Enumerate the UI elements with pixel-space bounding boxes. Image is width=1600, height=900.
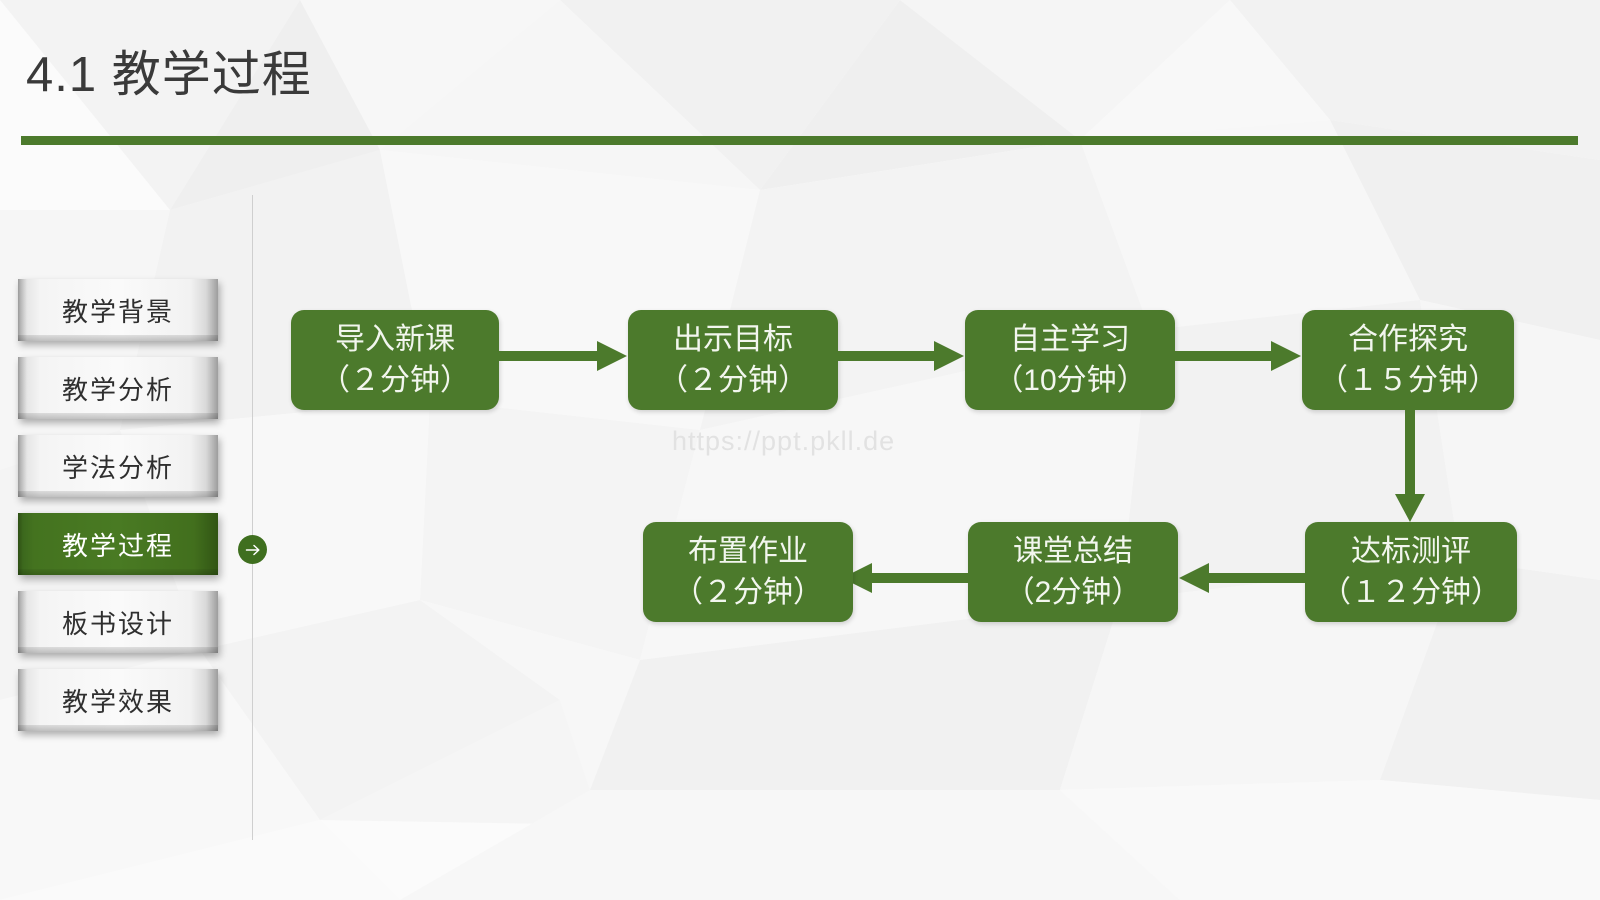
sidebar-item-label: 板书设计 [62, 604, 174, 641]
flow-node-title: 达标测评 [1351, 531, 1471, 572]
flow-node-hezuotanjiu[interactable]: 合作探究 （１５分钟） [1302, 310, 1514, 410]
sidebar-item-jiaoxuexiaoguo[interactable]: 教学效果 [18, 669, 218, 731]
sidebar-item-label: 教学效果 [62, 682, 174, 719]
flow-node-title: 出示目标 [673, 319, 793, 360]
flow-node-duration: （10分钟） [993, 360, 1146, 401]
flow-node-title: 合作探究 [1348, 319, 1468, 360]
flow-node-zizhuxuexi[interactable]: 自主学习 （10分钟） [965, 310, 1175, 410]
slide-canvas: 4.1 教学过程 教学背景 教学分析 学法分析 教学过程 板书设计 教学效果 [0, 0, 1600, 900]
sidebar-item-banshushejii[interactable]: 板书设计 [18, 591, 218, 653]
sidebar-item-label: 教学过程 [62, 526, 174, 563]
flow-arrow-left-1 [1176, 560, 1307, 596]
sidebar-item-label: 教学背景 [62, 292, 174, 329]
flow-node-duration: （１５分钟） [1318, 360, 1498, 401]
flow-node-title: 自主学习 [1010, 319, 1130, 360]
sidebar-item-label: 学法分析 [62, 448, 174, 485]
sidebar-item-label: 教学分析 [62, 370, 174, 407]
page-title: 4.1 教学过程 [26, 44, 312, 106]
sidebar-item-jiaoxuebeijing[interactable]: 教学背景 [18, 279, 218, 341]
flow-node-duration: （１２分钟） [1321, 572, 1501, 613]
flow-node-buzhizuoye[interactable]: 布置作业 （２分钟） [643, 522, 853, 622]
flow-node-ketangzongjie[interactable]: 课堂总结 （2分钟） [968, 522, 1178, 622]
flow-node-duration: （2分钟） [1005, 572, 1142, 613]
flow-node-chushimubiao[interactable]: 出示目标 （２分钟） [628, 310, 838, 410]
section-nav-sidebar[interactable]: 教学背景 教学分析 学法分析 教学过程 板书设计 教学效果 [18, 279, 222, 747]
flow-node-duration: （２分钟） [320, 360, 470, 401]
sidebar-item-xuefafenxi[interactable]: 学法分析 [18, 435, 218, 497]
sidebar-item-jiaoxueguocheng[interactable]: 教学过程 [18, 513, 218, 575]
arrow-right-circle-icon [238, 535, 267, 564]
flow-node-daoruxinke[interactable]: 导入新课 （２分钟） [291, 310, 499, 410]
flow-node-duration: （２分钟） [658, 360, 808, 401]
flow-node-title: 布置作业 [688, 531, 808, 572]
flow-arrow-left-2 [840, 560, 970, 596]
flow-node-duration: （２分钟） [673, 572, 823, 613]
flow-arrow-right-2 [838, 338, 966, 374]
teaching-process-flowchart: 导入新课 （２分钟） 出示目标 （２分钟） 自主学习 （10分钟） [0, 0, 1600, 900]
sidebar-item-jiaoxuefenxi[interactable]: 教学分析 [18, 357, 218, 419]
title-underline-rule [21, 136, 1578, 145]
flow-node-title: 课堂总结 [1013, 531, 1133, 572]
flow-arrow-right-3 [1175, 338, 1303, 374]
flow-node-dabiaoceping[interactable]: 达标测评 （１２分钟） [1305, 522, 1517, 622]
flow-node-title: 导入新课 [335, 319, 455, 360]
flow-arrow-right-1 [499, 338, 629, 374]
flow-arrow-down-1 [1390, 402, 1430, 524]
